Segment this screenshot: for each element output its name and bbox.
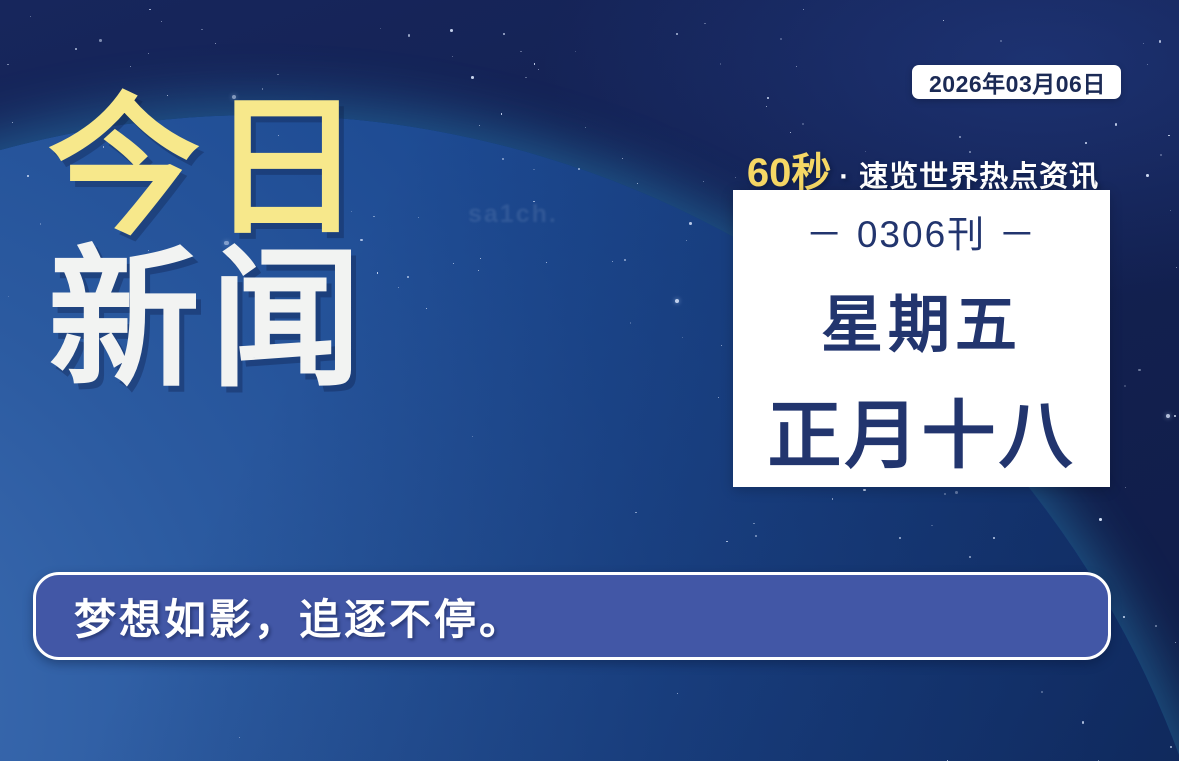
star (398, 287, 399, 288)
star (450, 29, 453, 32)
star (630, 322, 632, 324)
star (689, 222, 692, 225)
star (753, 523, 755, 525)
star (215, 43, 216, 44)
card-issue-number: － 0306刊 － (806, 204, 1038, 258)
star (1041, 691, 1043, 693)
star (534, 63, 535, 64)
star (1146, 174, 1149, 177)
star (1000, 40, 1002, 42)
star (1166, 414, 1170, 418)
watermark-text: sa1ch. (468, 200, 558, 229)
star (686, 240, 687, 241)
star (624, 259, 626, 261)
star (479, 125, 480, 126)
star (1125, 487, 1126, 488)
star (201, 29, 202, 30)
date-info-card: － 0306刊 － 星期五 正月十八 (733, 190, 1110, 487)
star (520, 51, 521, 52)
star (931, 525, 932, 526)
star (704, 23, 706, 25)
star (993, 537, 995, 539)
star (767, 97, 768, 98)
star (27, 175, 29, 177)
star (944, 493, 946, 495)
star (1160, 154, 1162, 156)
quote-banner: 梦想如影，追逐不停。 (33, 572, 1111, 660)
star (533, 169, 535, 171)
star (703, 181, 704, 182)
star (471, 76, 474, 79)
star (677, 693, 678, 694)
star (418, 217, 419, 218)
star (503, 33, 506, 36)
star (585, 127, 586, 128)
star (30, 16, 31, 17)
star (622, 158, 623, 159)
star (675, 299, 679, 303)
star (790, 132, 791, 133)
star (99, 39, 102, 42)
star (40, 223, 41, 224)
headline-line-news: 新闻 (48, 248, 372, 394)
page-title: 今日 新闻 (48, 96, 372, 394)
star (637, 183, 638, 184)
star (959, 136, 961, 138)
star (1147, 64, 1148, 65)
star (501, 113, 502, 114)
star (720, 63, 721, 64)
star (721, 345, 722, 346)
star (407, 276, 409, 278)
star (1170, 746, 1172, 748)
star (7, 64, 8, 65)
star (755, 535, 757, 537)
star (408, 34, 411, 37)
star (546, 262, 547, 263)
star (1115, 123, 1118, 126)
star (1082, 721, 1085, 724)
quote-banner-text: 梦想如影，追逐不停。 (74, 586, 524, 647)
star (161, 21, 162, 22)
star (1143, 43, 1144, 44)
card-weekday: 星期五 (821, 274, 1022, 364)
star (533, 201, 534, 202)
star (780, 38, 783, 41)
star (955, 491, 958, 494)
star (480, 258, 481, 259)
star (1168, 135, 1170, 137)
news-poster: sa1ch. 今日 新闻 2026年03月06日 60秒 · 速览世界热点资讯 … (0, 0, 1179, 761)
star (802, 123, 804, 125)
star (1170, 210, 1171, 211)
star (943, 20, 944, 21)
slogan-rest: · 速览世界热点资讯 (839, 153, 1099, 195)
star (12, 122, 13, 123)
star (796, 66, 797, 67)
star (472, 436, 473, 437)
star (1155, 625, 1157, 627)
star (239, 737, 240, 738)
star (149, 9, 151, 11)
star (676, 33, 678, 35)
star (426, 308, 428, 310)
star (969, 556, 971, 558)
star (863, 489, 866, 492)
star (1138, 369, 1141, 372)
star (502, 158, 504, 160)
star (575, 51, 576, 52)
star (1159, 40, 1162, 43)
star (578, 168, 580, 170)
star (478, 270, 479, 271)
star (766, 106, 767, 107)
star (612, 261, 613, 262)
star (8, 296, 9, 297)
star (899, 537, 901, 539)
star (1175, 642, 1176, 643)
star (452, 56, 453, 57)
star (277, 74, 279, 76)
star (377, 272, 379, 274)
star (380, 28, 381, 29)
star (1099, 518, 1102, 521)
star (718, 397, 719, 398)
star (538, 69, 539, 70)
star (525, 77, 526, 78)
star (832, 498, 834, 500)
date-badge: 2026年03月06日 (912, 65, 1121, 99)
star (1174, 415, 1176, 417)
star (1123, 616, 1125, 618)
star (373, 216, 374, 217)
star (1176, 267, 1177, 268)
star (726, 541, 728, 543)
star (148, 53, 149, 54)
headline-line-today: 今日 (48, 96, 372, 242)
card-lunar-date: 正月十八 (768, 376, 1076, 483)
star (682, 337, 683, 338)
star (130, 66, 131, 67)
star (635, 512, 637, 514)
star (803, 9, 804, 10)
star (453, 263, 454, 264)
star (1124, 385, 1126, 387)
star (75, 48, 76, 49)
